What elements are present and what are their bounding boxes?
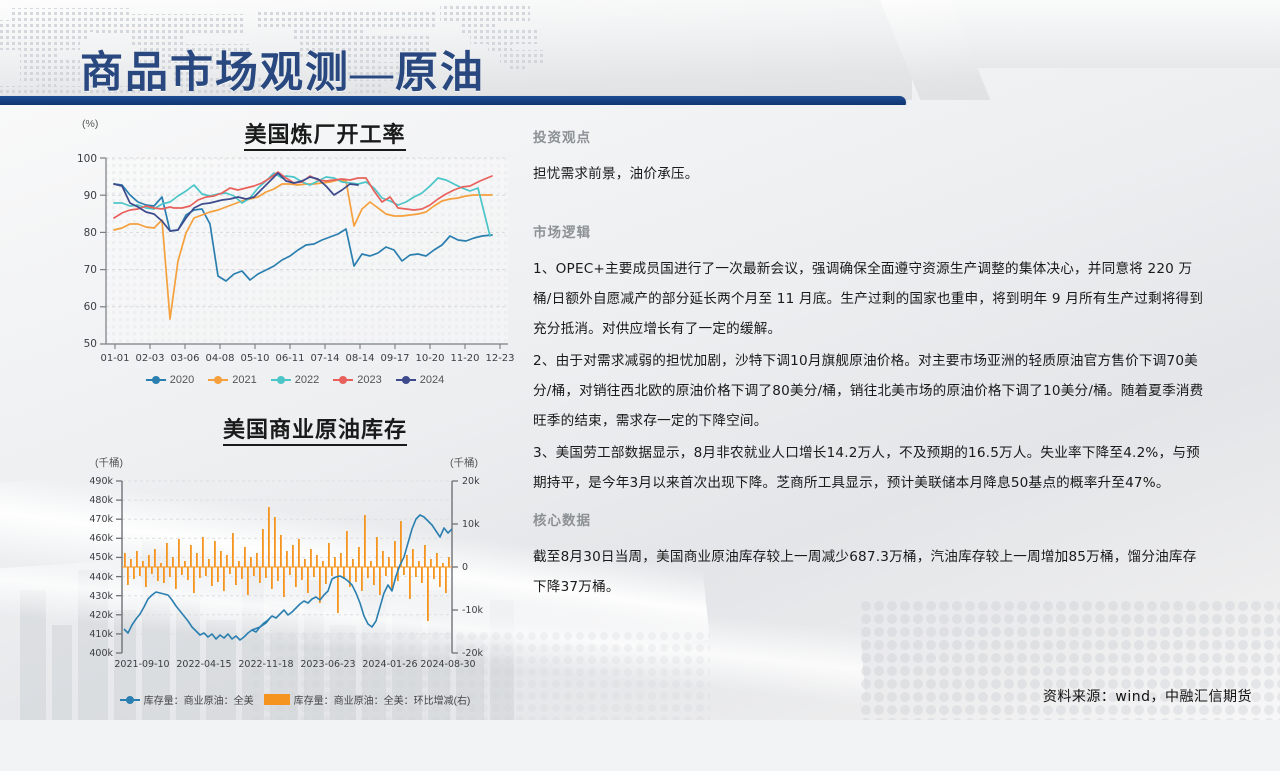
legend-marker-line [333,379,353,381]
svg-text:470k: 470k [89,514,113,525]
svg-text:400k: 400k [89,648,113,659]
spacer [533,500,1209,509]
svg-text:2022-11-18: 2022-11-18 [238,659,293,670]
svg-text:12-23: 12-23 [485,353,514,364]
legend-marker-line [120,699,140,701]
svg-text:02-03: 02-03 [135,353,164,364]
svg-text:2024-08-30: 2024-08-30 [420,659,475,670]
source-note: 资料来源：wind，中融汇信期货 [1043,686,1252,706]
section-heading-core-data: 核心数据 [533,509,1209,529]
legend-item-2022: 2022 [271,374,319,386]
svg-text:0: 0 [462,562,468,573]
legend-item-2023: 2023 [333,374,381,386]
svg-text:10-20: 10-20 [415,353,444,364]
chart2-legend: 库存量：商业原油：全美 库存量：商业原油：全美：环比增减(右) [70,692,520,707]
legend-item-2024: 2024 [396,374,444,386]
legend-marker-line [208,379,228,381]
core-data-text: 截至8月30日当周，美国商业原油库存较上一周减少687.3万桶，汽油库存较上一周… [533,542,1209,602]
svg-text:08-14: 08-14 [345,353,374,364]
legend-item-weekly-change: 库存量：商业原油：全美：环比增减(右) [264,692,471,707]
chart2-plot: 490k480k 470k460k 450k440k 430k420k 410k… [70,473,520,685]
svg-text:480k: 480k [89,495,113,506]
market-logic-paragraph-3: 3、美国劳工部数据显示，8月非农就业人口增长14.2万人，不及预期的16.5万人… [533,438,1209,498]
svg-text:490k: 490k [89,476,113,487]
legend-label: 2023 [357,374,381,386]
spacer [533,191,1209,221]
svg-text:-20k: -20k [462,648,484,659]
investment-view-text: 担忧需求前景，油价承压。 [533,159,1209,189]
svg-text:05-10: 05-10 [240,353,269,364]
svg-text:420k: 420k [89,610,113,621]
chart2-title: 美国商业原油库存 [223,417,407,446]
svg-text:07-14: 07-14 [310,353,339,364]
market-logic-paragraph-2: 2、由于对需求减弱的担忧加剧，沙特下调10月旗舰原油价格。对主要市场亚洲的轻质原… [533,346,1209,436]
svg-text:10k: 10k [462,519,480,530]
svg-text:2021-09-10: 2021-09-10 [114,659,169,670]
svg-text:06-11: 06-11 [275,353,304,364]
chart1-y-unit: (%) [82,118,98,130]
chart2-y-unit-right: (千桶) [450,455,478,470]
svg-text:440k: 440k [89,572,113,583]
svg-text:80: 80 [84,227,97,239]
svg-text:20k: 20k [462,476,480,487]
svg-text:60: 60 [84,301,97,313]
charts-column: 美国炼厂开工率 (%) [70,122,520,717]
svg-text:50: 50 [84,338,97,350]
svg-text:2023-06-23: 2023-06-23 [300,659,355,670]
svg-text:2022-04-15: 2022-04-15 [176,659,231,670]
header-accent-bar [0,96,906,105]
page-title: 商品市场观测—原油 [80,38,485,100]
section-heading-investment-view: 投资观点 [533,126,1209,146]
chart2-y-unit-left: (千桶) [95,455,123,470]
chart1-plot: 100 90 80 70 60 50 01-0102-03 03-0604-08… [70,150,520,378]
legend-marker-bar [264,694,290,705]
legend-marker-line [271,379,291,381]
svg-text:04-08: 04-08 [205,353,234,364]
svg-text:410k: 410k [89,629,113,640]
legend-label: 2024 [420,374,444,386]
legend-item-2020: 2020 [146,374,194,386]
refinery-utilization-chart: 美国炼厂开工率 (%) [70,122,520,402]
legend-item-inventory-level: 库存量：商业原油：全美 [120,692,254,707]
legend-label: 2021 [232,374,256,386]
svg-text:430k: 430k [89,591,113,602]
legend-label: 2020 [170,374,194,386]
svg-text:03-06: 03-06 [170,353,199,364]
svg-text:11-20: 11-20 [450,353,479,364]
svg-text:100: 100 [77,153,97,165]
slide-header: 商品市场观测—原油 [0,0,1280,105]
svg-text:01-01: 01-01 [100,353,129,364]
svg-text:-10k: -10k [462,605,484,616]
section-heading-market-logic: 市场逻辑 [533,221,1209,241]
legend-marker-line [396,379,416,381]
commentary-column: 投资观点 担忧需求前景，油价承压。 市场逻辑 1、OPEC+主要成员国进行了一次… [533,126,1209,604]
legend-label: 库存量：商业原油：全美：环比增减(右) [294,692,471,707]
legend-label: 2022 [295,374,319,386]
legend-item-2021: 2021 [208,374,256,386]
svg-text:2024-01-26: 2024-01-26 [362,659,417,670]
crude-inventory-chart: 美国商业原油库存 (千桶) (千桶) [70,417,520,717]
svg-text:09-17: 09-17 [380,353,409,364]
svg-text:460k: 460k [89,533,113,544]
chart1-title: 美国炼厂开工率 [244,122,405,151]
chart1-legend: 2020 2021 2022 2023 2024 [70,374,520,386]
market-logic-paragraph-1: 1、OPEC+主要成员国进行了一次最新会议，强调确保全面遵守资源生产调整的集体决… [533,254,1209,344]
svg-text:70: 70 [84,264,97,276]
svg-text:450k: 450k [89,552,113,563]
svg-text:90: 90 [84,190,97,202]
legend-label: 库存量：商业原油：全美 [144,692,254,707]
legend-marker-line [146,379,166,381]
